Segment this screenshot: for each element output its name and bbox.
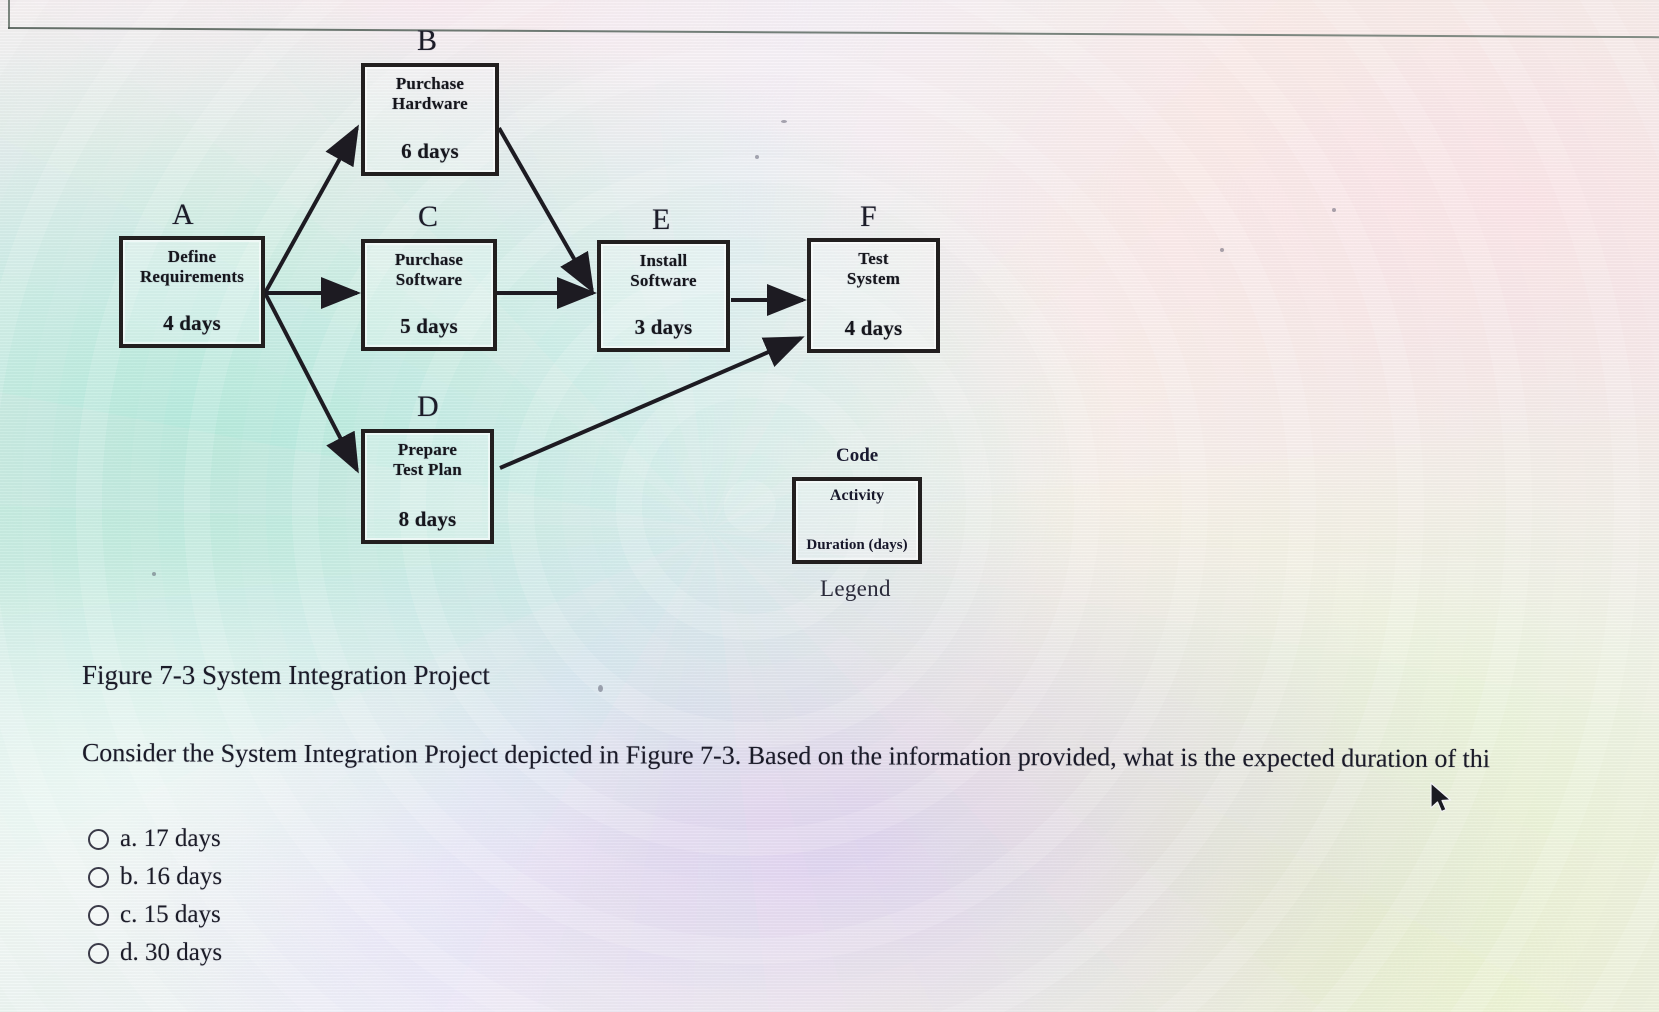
answer-option-b-label: b. 16 days	[120, 863, 222, 891]
answer-option-c-label: c. 15 days	[120, 901, 221, 929]
node-a-activity: Define Requirements	[127, 247, 257, 287]
node-e[interactable]: Install Software 3 days	[597, 240, 730, 352]
answer-option-c[interactable]: c. 15 days	[88, 896, 222, 934]
answer-option-d-label: d. 30 days	[120, 939, 222, 967]
radio-button-icon[interactable]	[88, 829, 109, 850]
legend-caption: Legend	[820, 576, 891, 602]
figure-caption: Figure 7-3 System Integration Project	[82, 660, 490, 691]
edge-a-d	[265, 293, 357, 470]
answer-option-b[interactable]: b. 16 days	[88, 858, 222, 896]
legend-code-label: Code	[836, 445, 878, 467]
legend-activity-label: Activity	[800, 487, 914, 505]
node-f-activity: Test System	[815, 249, 932, 289]
photo-speck	[152, 572, 156, 576]
question-text: Consider the System Integration Project …	[82, 738, 1659, 775]
node-a-duration: 4 days	[127, 311, 257, 336]
node-c[interactable]: Purchase Software 5 days	[361, 239, 497, 351]
node-code-d: D	[417, 390, 439, 424]
edge-b-e	[499, 128, 592, 290]
legend-duration-label: Duration (days)	[800, 537, 914, 554]
legend-box: Activity Duration (days)	[792, 477, 922, 564]
edge-d-f	[500, 338, 801, 468]
node-d-activity: Prepare Test Plan	[369, 440, 486, 480]
node-c-duration: 5 days	[369, 314, 489, 339]
photo-speck	[1332, 208, 1336, 212]
node-b-duration: 6 days	[369, 139, 491, 164]
answer-option-a[interactable]: a. 17 days	[88, 820, 222, 858]
node-e-duration: 3 days	[605, 315, 722, 340]
node-code-b: B	[417, 24, 437, 58]
answer-options: a. 17 days b. 16 days c. 15 days d. 30 d…	[88, 820, 222, 972]
node-code-f: F	[860, 200, 877, 234]
photo-speck	[755, 155, 759, 159]
node-code-c: C	[418, 200, 438, 234]
photo-speck	[598, 685, 603, 692]
node-f[interactable]: Test System 4 days	[807, 238, 940, 353]
node-c-activity: Purchase Software	[369, 250, 489, 290]
node-e-activity: Install Software	[605, 251, 722, 291]
mouse-cursor-icon	[1429, 782, 1455, 816]
answer-option-d[interactable]: d. 30 days	[88, 934, 222, 972]
photo-speck	[1220, 248, 1224, 252]
network-diagram: A Define Requirements 4 days B Purchase …	[0, 0, 1659, 640]
node-code-a: A	[172, 198, 194, 232]
edge-a-b	[265, 128, 357, 293]
photographed-screen: A Define Requirements 4 days B Purchase …	[0, 0, 1659, 1012]
radio-button-icon[interactable]	[88, 905, 109, 926]
node-b[interactable]: Purchase Hardware 6 days	[361, 63, 499, 176]
node-d-duration: 8 days	[369, 507, 486, 532]
node-f-duration: 4 days	[815, 316, 932, 341]
radio-button-icon[interactable]	[88, 867, 109, 888]
node-b-activity: Purchase Hardware	[369, 74, 491, 114]
node-a[interactable]: Define Requirements 4 days	[119, 236, 265, 348]
answer-option-a-label: a. 17 days	[120, 825, 221, 853]
photo-speck	[781, 120, 787, 123]
radio-button-icon[interactable]	[88, 943, 109, 964]
node-d[interactable]: Prepare Test Plan 8 days	[361, 429, 494, 544]
node-code-e: E	[652, 203, 670, 237]
